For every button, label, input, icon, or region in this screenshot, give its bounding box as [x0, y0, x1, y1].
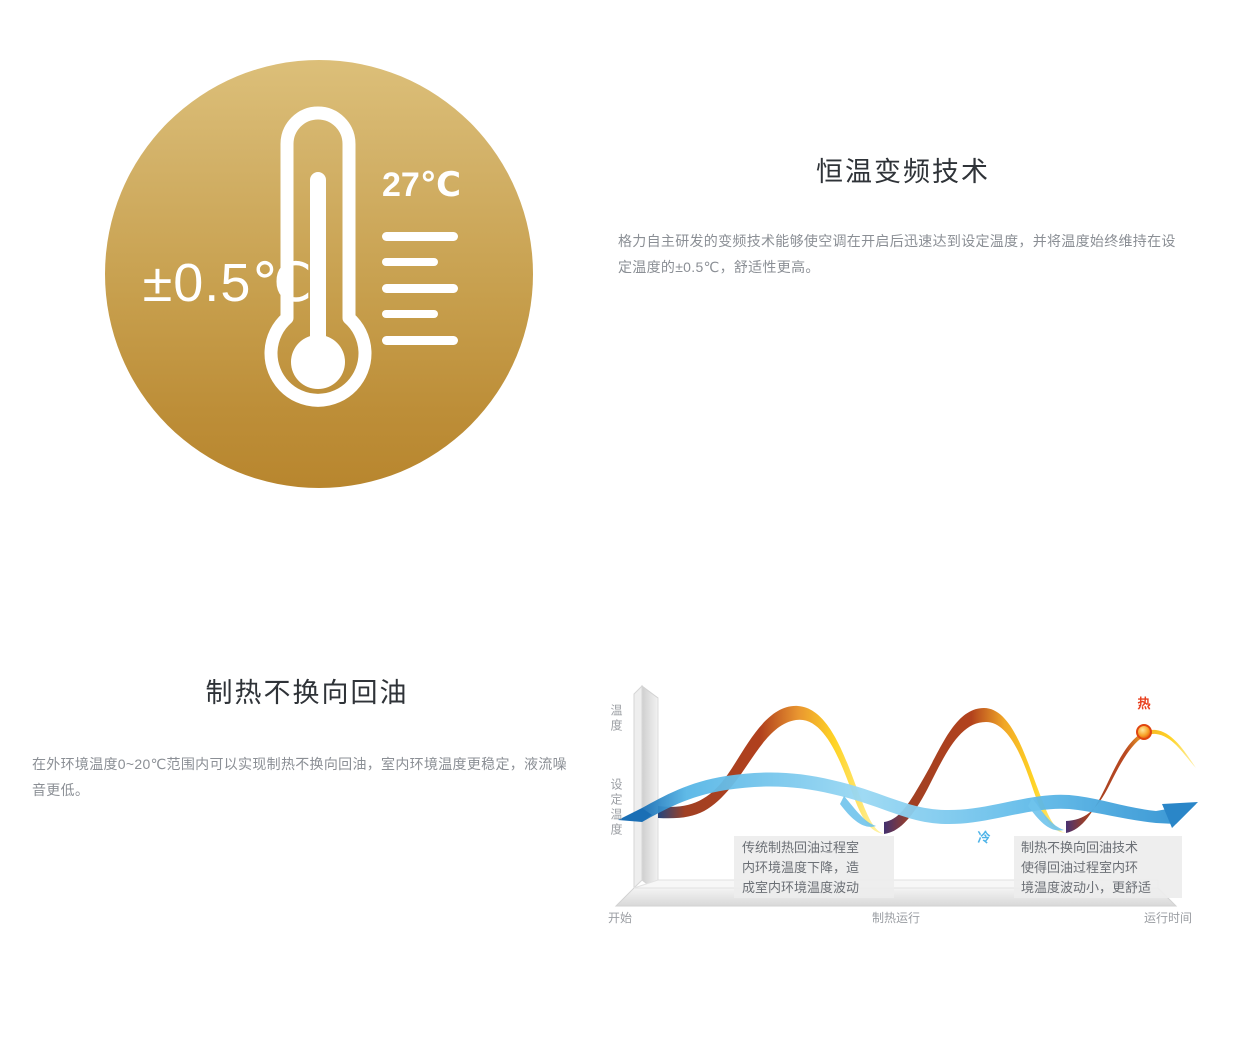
- y-axis-top-label: 温度: [609, 704, 623, 734]
- section2-body-text: 在外环境温度0~20℃范围内可以实现制热不换向回油，室内环境温度更稳定，液流噪音…: [32, 751, 580, 803]
- x-axis-start-label: 开始: [608, 911, 632, 925]
- thermometer-icon: ±0.5℃ 27℃: [105, 60, 533, 488]
- annotation-no-reverse-line-2: 使得回油过程室内环: [1021, 860, 1138, 875]
- legend-cold-label: 冷: [977, 830, 990, 845]
- hot-marker-dot: [1137, 725, 1151, 739]
- y-axis-set-temp-label: 设定温度: [609, 778, 623, 838]
- annotation-no-reverse-note: 制热不换向回油技术 使得回油过程室内环 境温度波动小，更舒适: [1014, 836, 1182, 898]
- section2-title: 制热不换向回油: [22, 675, 592, 711]
- section-constant-temp-inverter: ±0.5℃ 27℃ 恒温变频技术 格力自主研发的变频技术能够使空调在开启后迅速达…: [0, 0, 1233, 540]
- temperature-readout-label: 27℃: [382, 168, 461, 202]
- annotation-traditional-line-2: 内环境温度下降，造: [742, 860, 859, 875]
- marketing-page: ±0.5℃ 27℃ 恒温变频技术 格力自主研发的变频技术能够使空调在开启后迅速达…: [0, 0, 1233, 1047]
- annotation-traditional-line-3: 成室内环境温度波动: [742, 880, 859, 895]
- x-axis-end-label: 运行时间: [1144, 911, 1192, 925]
- annotation-no-reverse-line-3: 境温度波动小，更舒适: [1021, 880, 1151, 895]
- temperature-fluctuation-chart: 热 冷 传统制热回油过程室 内环境温度下降，造 成室内环境温度波动 制热不换向回…: [600, 680, 1200, 940]
- section-heating-no-reverse-oil-return: 制热不换向回油 在外环境温度0~20℃范围内可以实现制热不换向回油，室内环境温度…: [0, 540, 1233, 1047]
- annotation-no-reverse-line-1: 制热不换向回油技术: [1021, 840, 1138, 855]
- tolerance-label: ±0.5℃: [123, 256, 313, 310]
- section1-body-text: 格力自主研发的变频技术能够使空调在开启后迅速达到设定温度，并将温度始终维持在设定…: [618, 228, 1178, 280]
- x-axis-mid-label: 制热运行: [872, 911, 920, 925]
- annotation-traditional-line-1: 传统制热回油过程室: [742, 840, 859, 855]
- section1-title: 恒温变频技术: [618, 154, 1188, 190]
- annotation-traditional-note: 传统制热回油过程室 内环境温度下降，造 成室内环境温度波动: [734, 836, 894, 898]
- legend-hot-label: 热: [1137, 696, 1150, 711]
